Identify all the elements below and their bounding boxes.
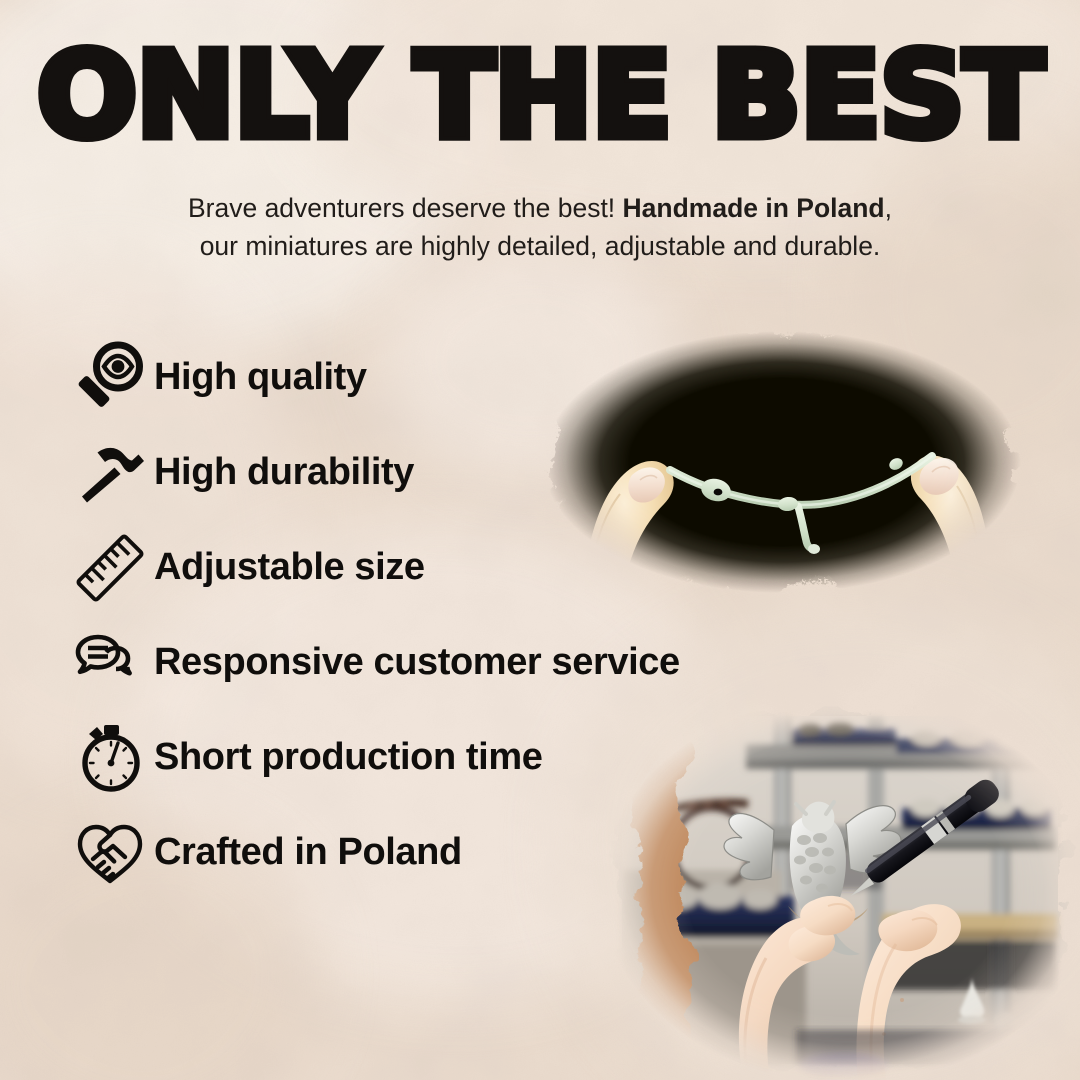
list-item: Responsive customer service [66, 615, 806, 710]
subtitle-bold-phrase: Handmade in Poland [623, 193, 885, 223]
list-item-label: High quality [154, 356, 367, 399]
flexible-miniature-photo [520, 312, 1044, 612]
list-item-label: Crafted in Poland [154, 831, 462, 874]
hammer-icon [66, 436, 154, 510]
list-item-label: High durability [154, 451, 414, 494]
subtitle-line-2: our miniatures are highly detailed, adju… [200, 231, 881, 261]
ruler-icon [66, 531, 154, 605]
subtitle-line-1: Brave adventurers deserve the best! Hand… [188, 193, 892, 223]
promo-poster: ONLY THE BEST Brave adventurers deserve … [0, 0, 1080, 1080]
page-title: ONLY THE BEST [0, 36, 1080, 154]
magnifier-eye-icon [66, 341, 154, 415]
stopwatch-icon [66, 721, 154, 795]
workshop-painting-photo [596, 700, 1080, 1080]
list-item-label: Short production time [154, 736, 542, 779]
list-item-label: Responsive customer service [154, 641, 680, 684]
subtitle: Brave adventurers deserve the best! Hand… [0, 190, 1080, 265]
heart-handshake-icon [66, 815, 154, 891]
speech-bubbles-icon [66, 625, 154, 701]
list-item-label: Adjustable size [154, 546, 425, 589]
